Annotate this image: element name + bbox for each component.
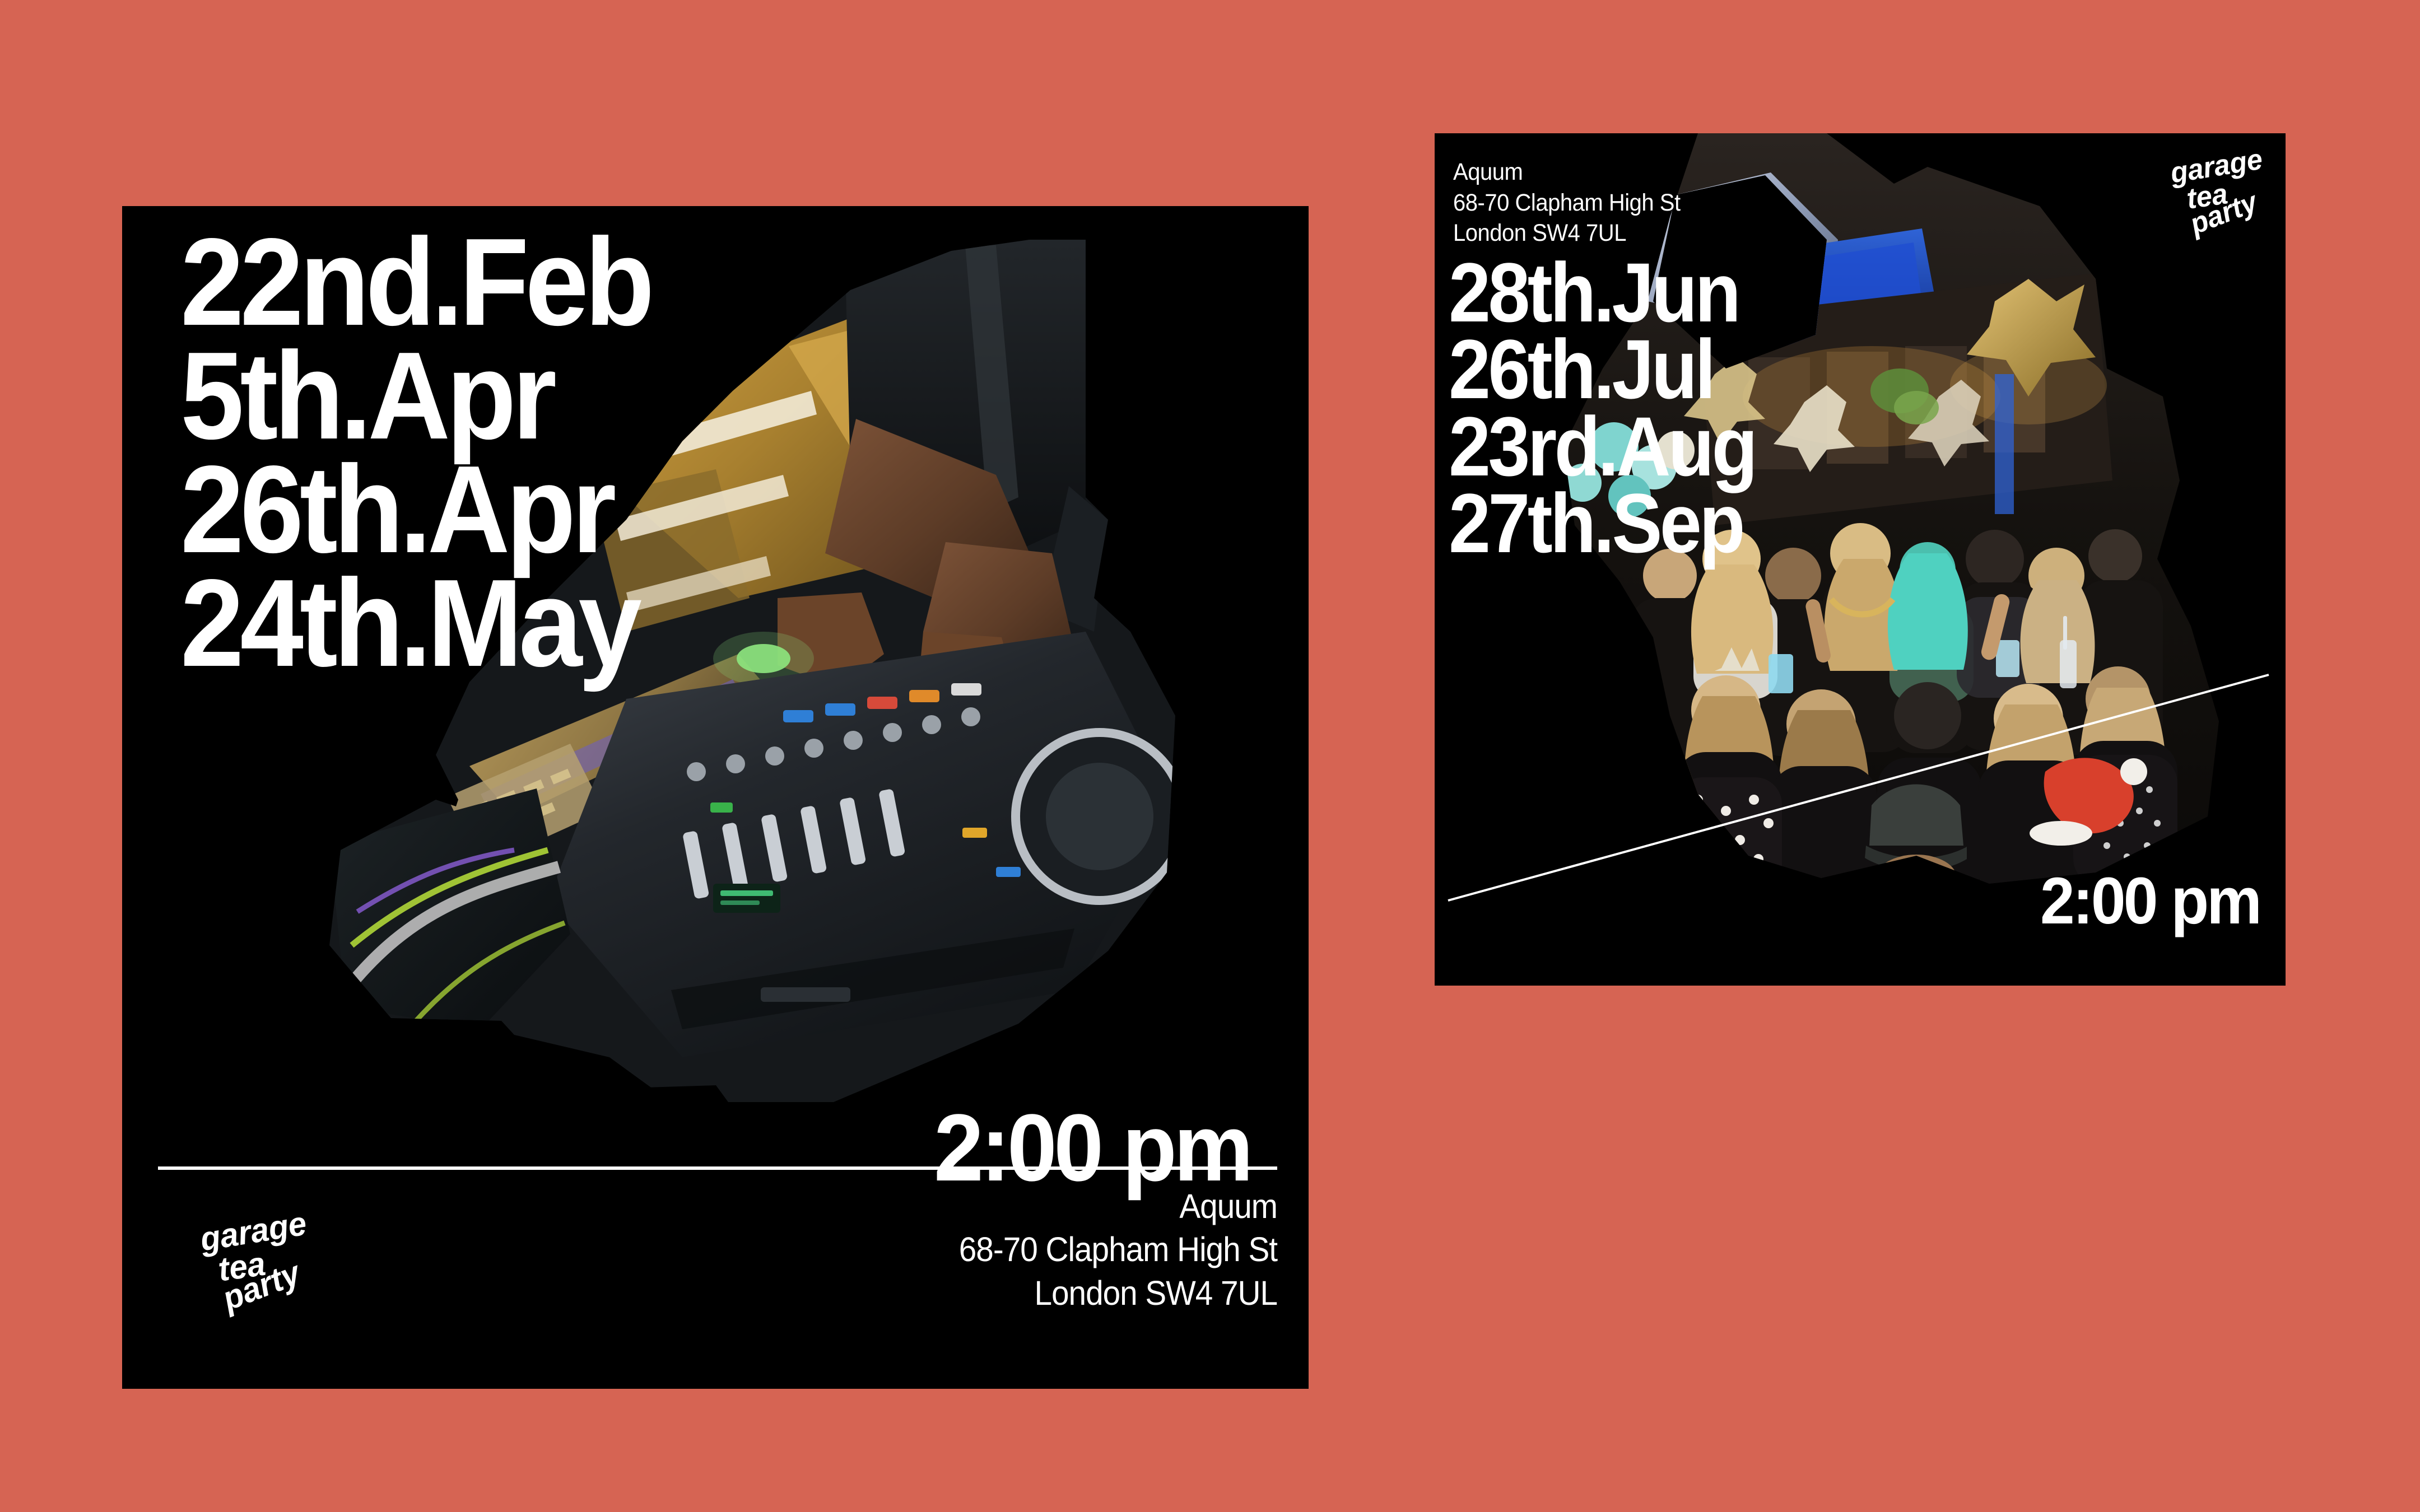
venue-name: Aquum	[959, 1185, 1277, 1228]
poster-primary[interactable]: 22nd.Feb 5th.Apr 26th.Apr 24th.May 2:00 …	[122, 206, 1309, 1389]
date-item: 26th.Jul	[1449, 331, 1755, 408]
venue-city-postcode: London SW4 7UL	[1453, 218, 1681, 249]
date-item: 27th.Sep	[1449, 485, 1755, 562]
date-list-secondary: 28th.Jun 26th.Jul 23rd.Aug 27th.Sep	[1449, 254, 1755, 562]
brand-logo-primary[interactable]: garage tea party	[201, 1224, 311, 1316]
date-item: 24th.May	[180, 567, 650, 680]
venue-street: 68-70 Clapham High St	[959, 1228, 1277, 1271]
date-item: 28th.Jun	[1449, 254, 1755, 331]
date-item: 22nd.Feb	[180, 226, 650, 339]
divider-rule	[158, 1166, 1277, 1170]
poster-secondary[interactable]: Aquum 68-70 Clapham High St London SW4 7…	[1435, 133, 2286, 986]
brand-logo-secondary[interactable]: garage tea party	[2171, 160, 2267, 240]
venue-city-postcode: London SW4 7UL	[959, 1272, 1277, 1315]
date-list-primary: 22nd.Feb 5th.Apr 26th.Apr 24th.May	[180, 226, 650, 681]
venue-name: Aquum	[1453, 157, 1681, 188]
event-time-secondary: 2:00 pm	[2040, 868, 2260, 934]
date-item: 26th.Apr	[180, 453, 650, 567]
date-item: 5th.Apr	[180, 339, 650, 453]
date-item: 23rd.Aug	[1449, 408, 1755, 485]
venue-address-primary: Aquum 68-70 Clapham High St London SW4 7…	[959, 1185, 1277, 1315]
venue-address-secondary: Aquum 68-70 Clapham High St London SW4 7…	[1453, 157, 1681, 249]
venue-street: 68-70 Clapham High St	[1453, 188, 1681, 218]
event-time-primary: 2:00 pm	[934, 1100, 1250, 1196]
